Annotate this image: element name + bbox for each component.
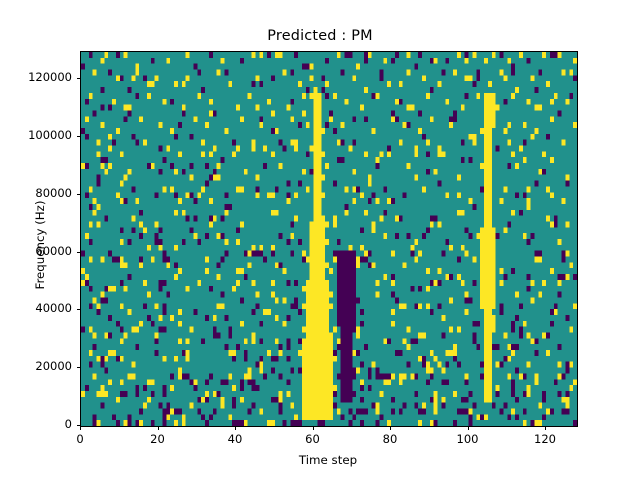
chart-title: Predicted : PM <box>0 28 640 44</box>
y-tick-label: 120000 <box>6 70 72 84</box>
x-tick-label: 80 <box>360 432 420 446</box>
y-tick <box>77 136 81 137</box>
x-tick <box>235 426 236 430</box>
y-tick-label: 80000 <box>6 186 72 200</box>
y-tick <box>77 194 81 195</box>
x-tick <box>80 426 81 430</box>
x-tick <box>545 426 546 430</box>
y-tick-label: 20000 <box>6 359 72 373</box>
x-tick <box>158 426 159 430</box>
y-tick <box>77 367 81 368</box>
x-tick-label: 60 <box>283 432 343 446</box>
x-tick <box>468 426 469 430</box>
y-tick-label: 40000 <box>6 301 72 315</box>
y-tick <box>77 309 81 310</box>
x-tick-label: 20 <box>128 432 188 446</box>
y-tick-label: 100000 <box>6 128 72 142</box>
x-tick-label: 40 <box>205 432 265 446</box>
heatmap-axes <box>80 51 578 427</box>
x-tick <box>390 426 391 430</box>
y-tick <box>77 425 81 426</box>
y-tick <box>77 78 81 79</box>
x-tick-label: 0 <box>50 432 110 446</box>
y-tick-label: 60000 <box>6 244 72 258</box>
y-tick <box>77 252 81 253</box>
figure-canvas: Predicted : PM Time step Frequency (Hz) … <box>0 0 640 480</box>
heatmap-raster <box>81 52 577 426</box>
heatmap-image <box>81 52 577 426</box>
x-tick <box>313 426 314 430</box>
y-tick-label: 0 <box>6 417 72 431</box>
x-tick-label: 100 <box>438 432 498 446</box>
x-tick-label: 120 <box>515 432 575 446</box>
x-axis-label: Time step <box>80 453 576 467</box>
